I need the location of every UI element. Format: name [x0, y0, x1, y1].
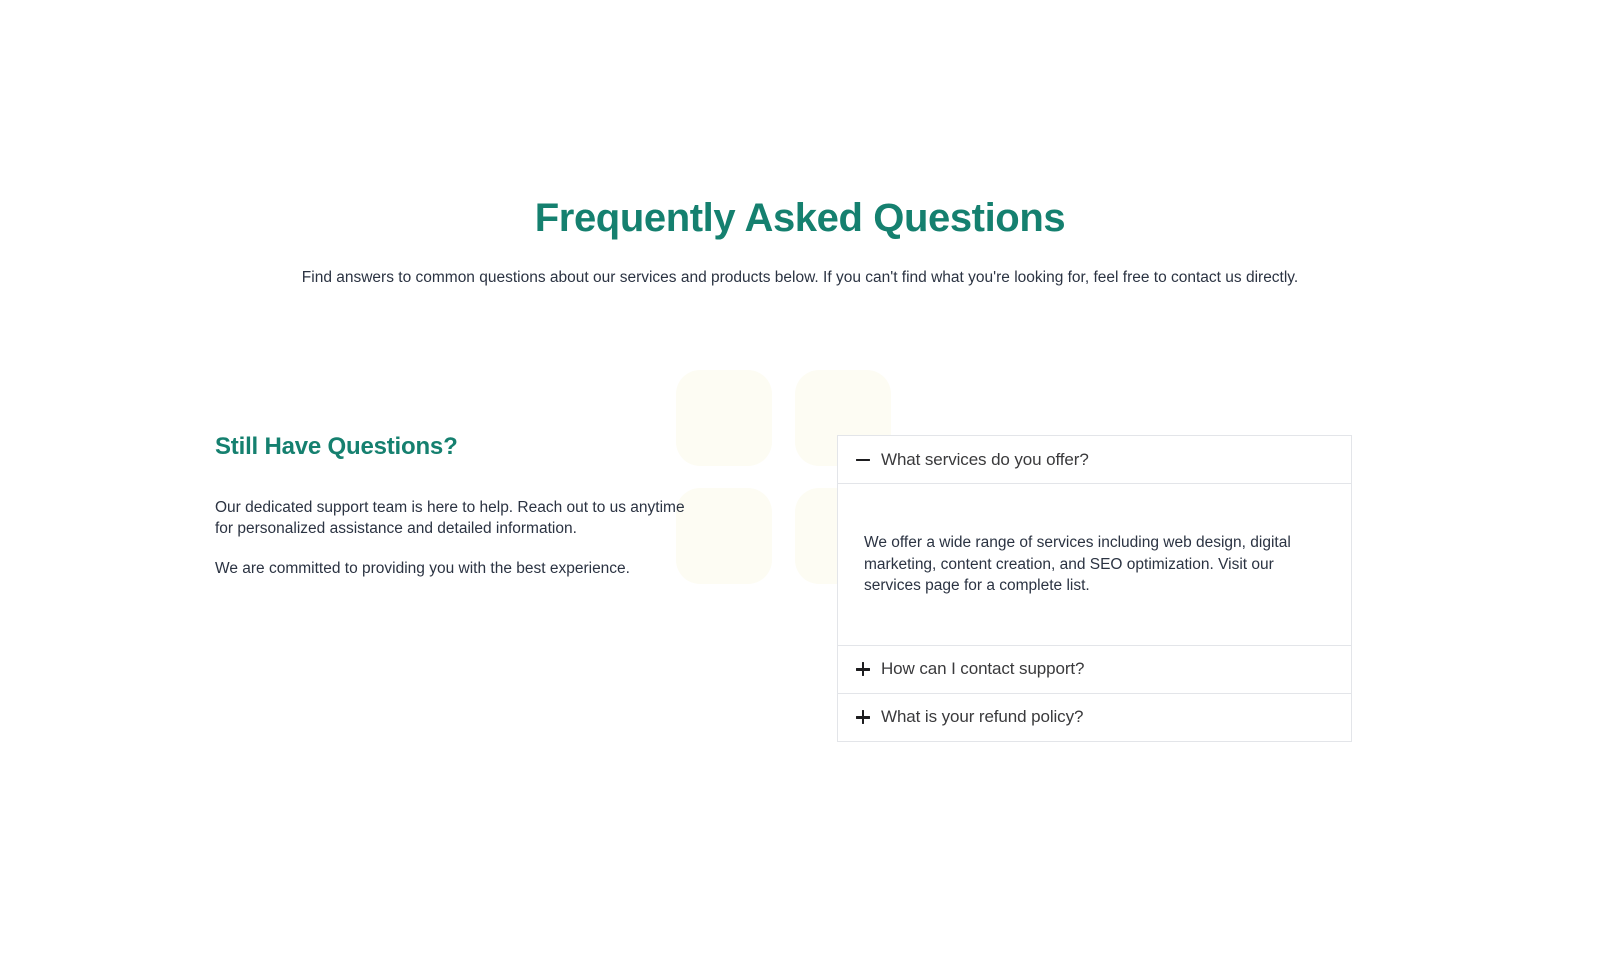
accordion-item-3: What is your refund policy?	[838, 694, 1351, 741]
section-heading: Still Have Questions?	[215, 430, 715, 464]
plus-icon	[854, 660, 872, 678]
accordion-item-2: How can I contact support?	[838, 646, 1351, 694]
faq-accordion: What services do you offer? We offer a w…	[837, 435, 1352, 742]
page-subtitle: Find answers to common questions about o…	[0, 266, 1600, 290]
section-paragraph-2: We are committed to providing you with t…	[215, 558, 693, 579]
accordion-header-1[interactable]: What services do you offer?	[838, 436, 1351, 483]
page-title: Frequently Asked Questions	[0, 192, 1600, 244]
accordion-question-3: What is your refund policy?	[881, 705, 1083, 729]
still-have-questions-section: Still Have Questions? Our dedicated supp…	[215, 430, 715, 579]
accordion-item-1: What services do you offer? We offer a w…	[838, 436, 1351, 646]
accordion-header-2[interactable]: How can I contact support?	[838, 646, 1351, 693]
accordion-question-1: What services do you offer?	[881, 448, 1089, 472]
accordion-header-3[interactable]: What is your refund policy?	[838, 694, 1351, 741]
accordion-panel-1: We offer a wide range of services includ…	[838, 483, 1351, 645]
minus-icon	[854, 451, 872, 469]
faq-page: Frequently Asked Questions Find answers …	[0, 0, 1600, 978]
section-paragraph-1: Our dedicated support team is here to he…	[215, 497, 693, 539]
accordion-question-2: How can I contact support?	[881, 657, 1084, 681]
plus-icon	[854, 708, 872, 726]
accordion-answer-1: We offer a wide range of services includ…	[864, 532, 1317, 597]
